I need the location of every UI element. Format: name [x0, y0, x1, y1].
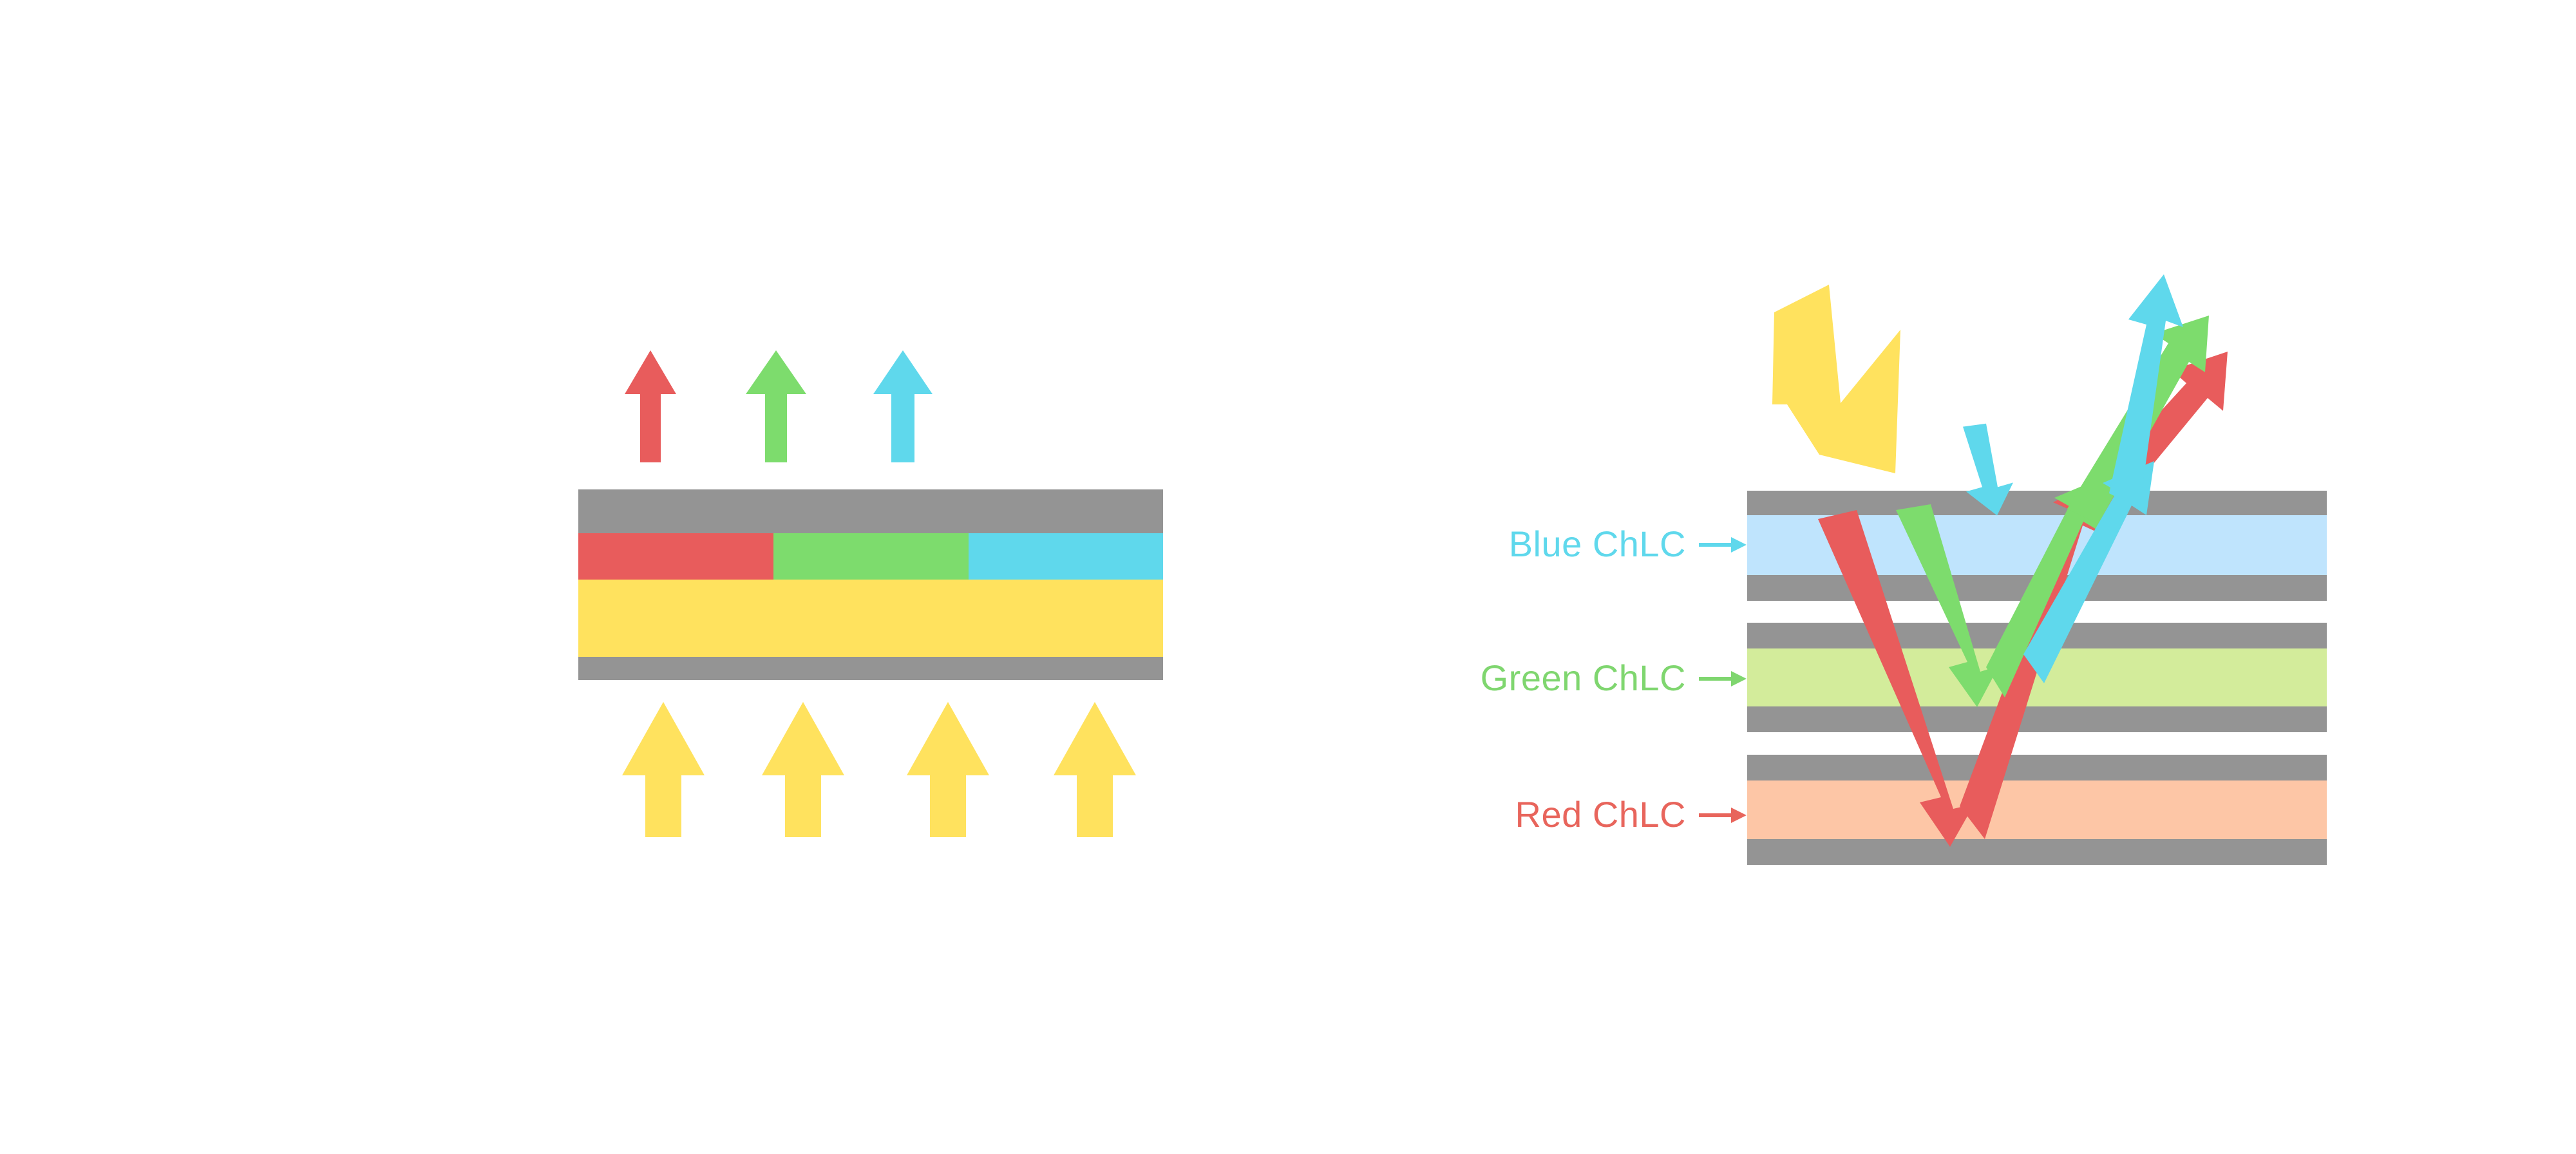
incident-white-light-ray: [1772, 285, 1900, 473]
red-filter-segment: [578, 533, 773, 580]
blue-emitted-ray: [873, 350, 933, 462]
red-label-arrow-icon: [1699, 808, 1747, 823]
green-label-arrow-icon: [1699, 671, 1747, 686]
left-stack-group: [578, 489, 1163, 680]
blue-ray-group: [1963, 274, 2183, 683]
right-panel-group: Blue ChLC Green ChLC Red ChLC: [1481, 274, 2327, 865]
red-emitted-ray: [625, 350, 676, 462]
blue-chlc-label: Blue ChLC: [1509, 524, 1686, 564]
chlc-labels-group: Blue ChLC Green ChLC Red ChLC: [1481, 524, 1747, 835]
red-chlc-layer: [1747, 780, 2327, 839]
backlight-layer: [578, 580, 1163, 657]
diagram-svg: Blue ChLC Green ChLC Red ChLC: [0, 0, 2576, 1154]
bottom-electrode: [578, 657, 1163, 680]
backlight-ray-2: [762, 702, 844, 837]
red-chlc-bottom-substrate: [1747, 839, 2327, 865]
green-filter-segment: [773, 533, 969, 580]
left-panel-group: [578, 350, 1163, 837]
top-electrode: [578, 489, 1163, 533]
blue-chlc-top-substrate: [1747, 491, 2327, 515]
green-chlc-label: Green ChLC: [1481, 657, 1686, 698]
backlight-ray-3: [907, 702, 989, 837]
red-chlc-label: Red ChLC: [1515, 794, 1686, 835]
backlight-ray-4: [1054, 702, 1136, 837]
green-emitted-ray: [746, 350, 806, 462]
blue-label-arrow-icon: [1699, 537, 1747, 553]
red-chlc-top-substrate: [1747, 755, 2327, 780]
blue-filter-segment: [969, 533, 1163, 580]
green-chlc-bottom-substrate: [1747, 706, 2327, 732]
emitted-arrows-group: [625, 350, 933, 462]
diagram-canvas: Blue ChLC Green ChLC Red ChLC: [0, 0, 2576, 1154]
backlight-ray-1: [622, 702, 705, 837]
backlight-arrows-group: [622, 702, 1136, 837]
